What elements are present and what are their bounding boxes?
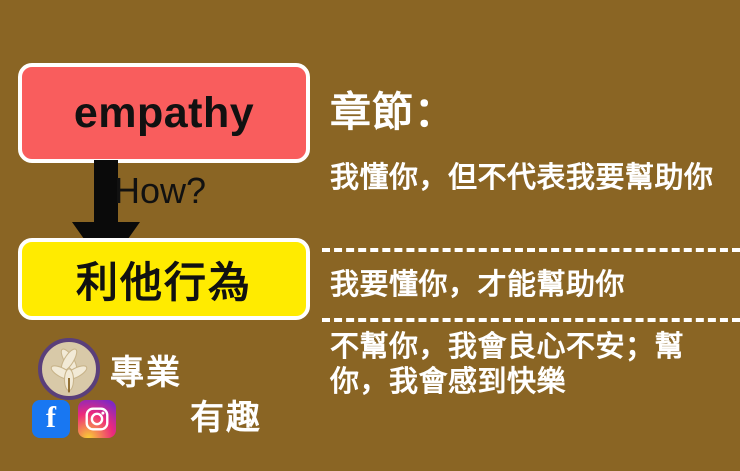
chapter-item-3: 不幫你，我會良心不安；幫你，我會感到快樂 [330, 330, 730, 401]
left-diagram-column: empathy How? 利他行為 [0, 0, 320, 471]
chapter-title: 章節： [330, 78, 456, 138]
chapter-item-2: 我要懂你，才能幫助你 [330, 268, 730, 303]
empathy-label: empathy [74, 89, 254, 138]
how-question-label: How? [114, 170, 206, 212]
empathy-concept-box: empathy [18, 63, 310, 163]
altruistic-behavior-box: 利他行為 [18, 238, 310, 320]
right-text-column: 章節： 我懂你，但不代表我要幫助你 我要懂你，才能幫助你 不幫你，我會良心不安；… [322, 0, 740, 471]
facebook-icon[interactable]: f [32, 400, 70, 438]
chapter-item-1: 我懂你，但不代表我要幫助你 [330, 161, 730, 196]
instagram-icon[interactable] [78, 400, 116, 438]
channel-logo-icon [38, 338, 100, 400]
divider-2 [322, 318, 740, 322]
badge-professional: 專業 [110, 345, 182, 394]
social-links: f [32, 400, 116, 438]
divider-1 [322, 248, 740, 252]
badge-interesting: 有趣 [190, 390, 262, 439]
slide-canvas: empathy How? 利他行為 [0, 0, 740, 471]
altruistic-behavior-label: 利他行為 [76, 249, 252, 310]
